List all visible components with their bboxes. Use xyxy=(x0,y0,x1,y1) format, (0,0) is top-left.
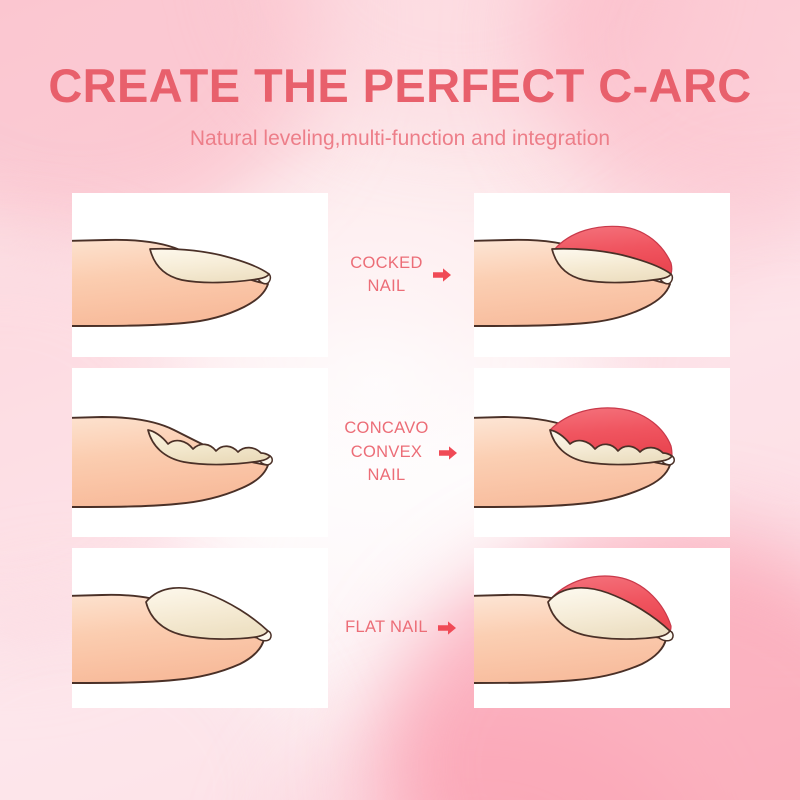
row-label-text: FLAT NAIL xyxy=(345,616,428,639)
row-label-concavo-convex-nail: CONCAVO CONVEX NAIL xyxy=(328,368,474,537)
illustration-flat-nail-after xyxy=(474,548,730,708)
illustration-concavo-convex-nail-after xyxy=(474,368,730,537)
illustration-flat-nail-before xyxy=(72,548,328,708)
arrow-right-icon xyxy=(437,620,457,636)
page-title: CREATE THE PERFECT C-ARC xyxy=(0,62,800,109)
page-subtitle: Natural leveling,multi-function and inte… xyxy=(0,128,800,149)
row-label-text: CONCAVO CONVEX NAIL xyxy=(344,417,428,487)
poster-header: CREATE THE PERFECT C-ARC Natural levelin… xyxy=(0,62,800,149)
row-label-flat-nail: FLAT NAIL xyxy=(328,548,474,708)
blob-bottom-center xyxy=(270,700,690,800)
illustration-cocked-nail-after xyxy=(474,193,730,357)
arrow-right-icon xyxy=(432,267,452,283)
poster-root: CREATE THE PERFECT C-ARC Natural levelin… xyxy=(0,0,800,800)
arrow-right-icon xyxy=(438,445,458,461)
row-label-text: COCKED NAIL xyxy=(350,252,422,299)
row-label-cocked-nail: COCKED NAIL xyxy=(328,193,474,357)
illustration-concavo-convex-nail-before xyxy=(72,368,328,537)
illustration-cocked-nail-before xyxy=(72,193,328,357)
